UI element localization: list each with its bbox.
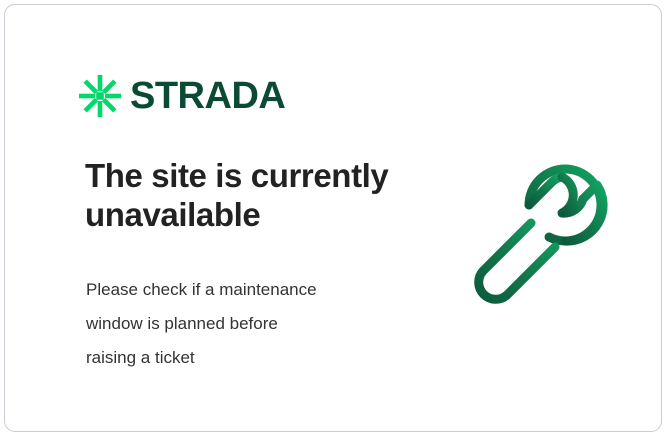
page-viewport: STRADA The site is currently unavailable…: [0, 0, 666, 436]
brand-wordmark: STRADA: [130, 77, 285, 115]
status-card: STRADA The site is currently unavailable…: [4, 4, 662, 432]
maintenance-illustration: [457, 155, 617, 317]
wrench-icon: [457, 155, 617, 317]
description-line: raising a ticket: [86, 341, 406, 375]
description-line: window is planned before: [86, 307, 406, 341]
strada-asterisk-icon: [79, 75, 121, 117]
page-title: The site is currently unavailable: [85, 157, 415, 235]
status-description: Please check if a maintenance window is …: [86, 273, 406, 375]
brand-logo: STRADA: [79, 75, 285, 117]
description-line: Please check if a maintenance: [86, 273, 406, 307]
